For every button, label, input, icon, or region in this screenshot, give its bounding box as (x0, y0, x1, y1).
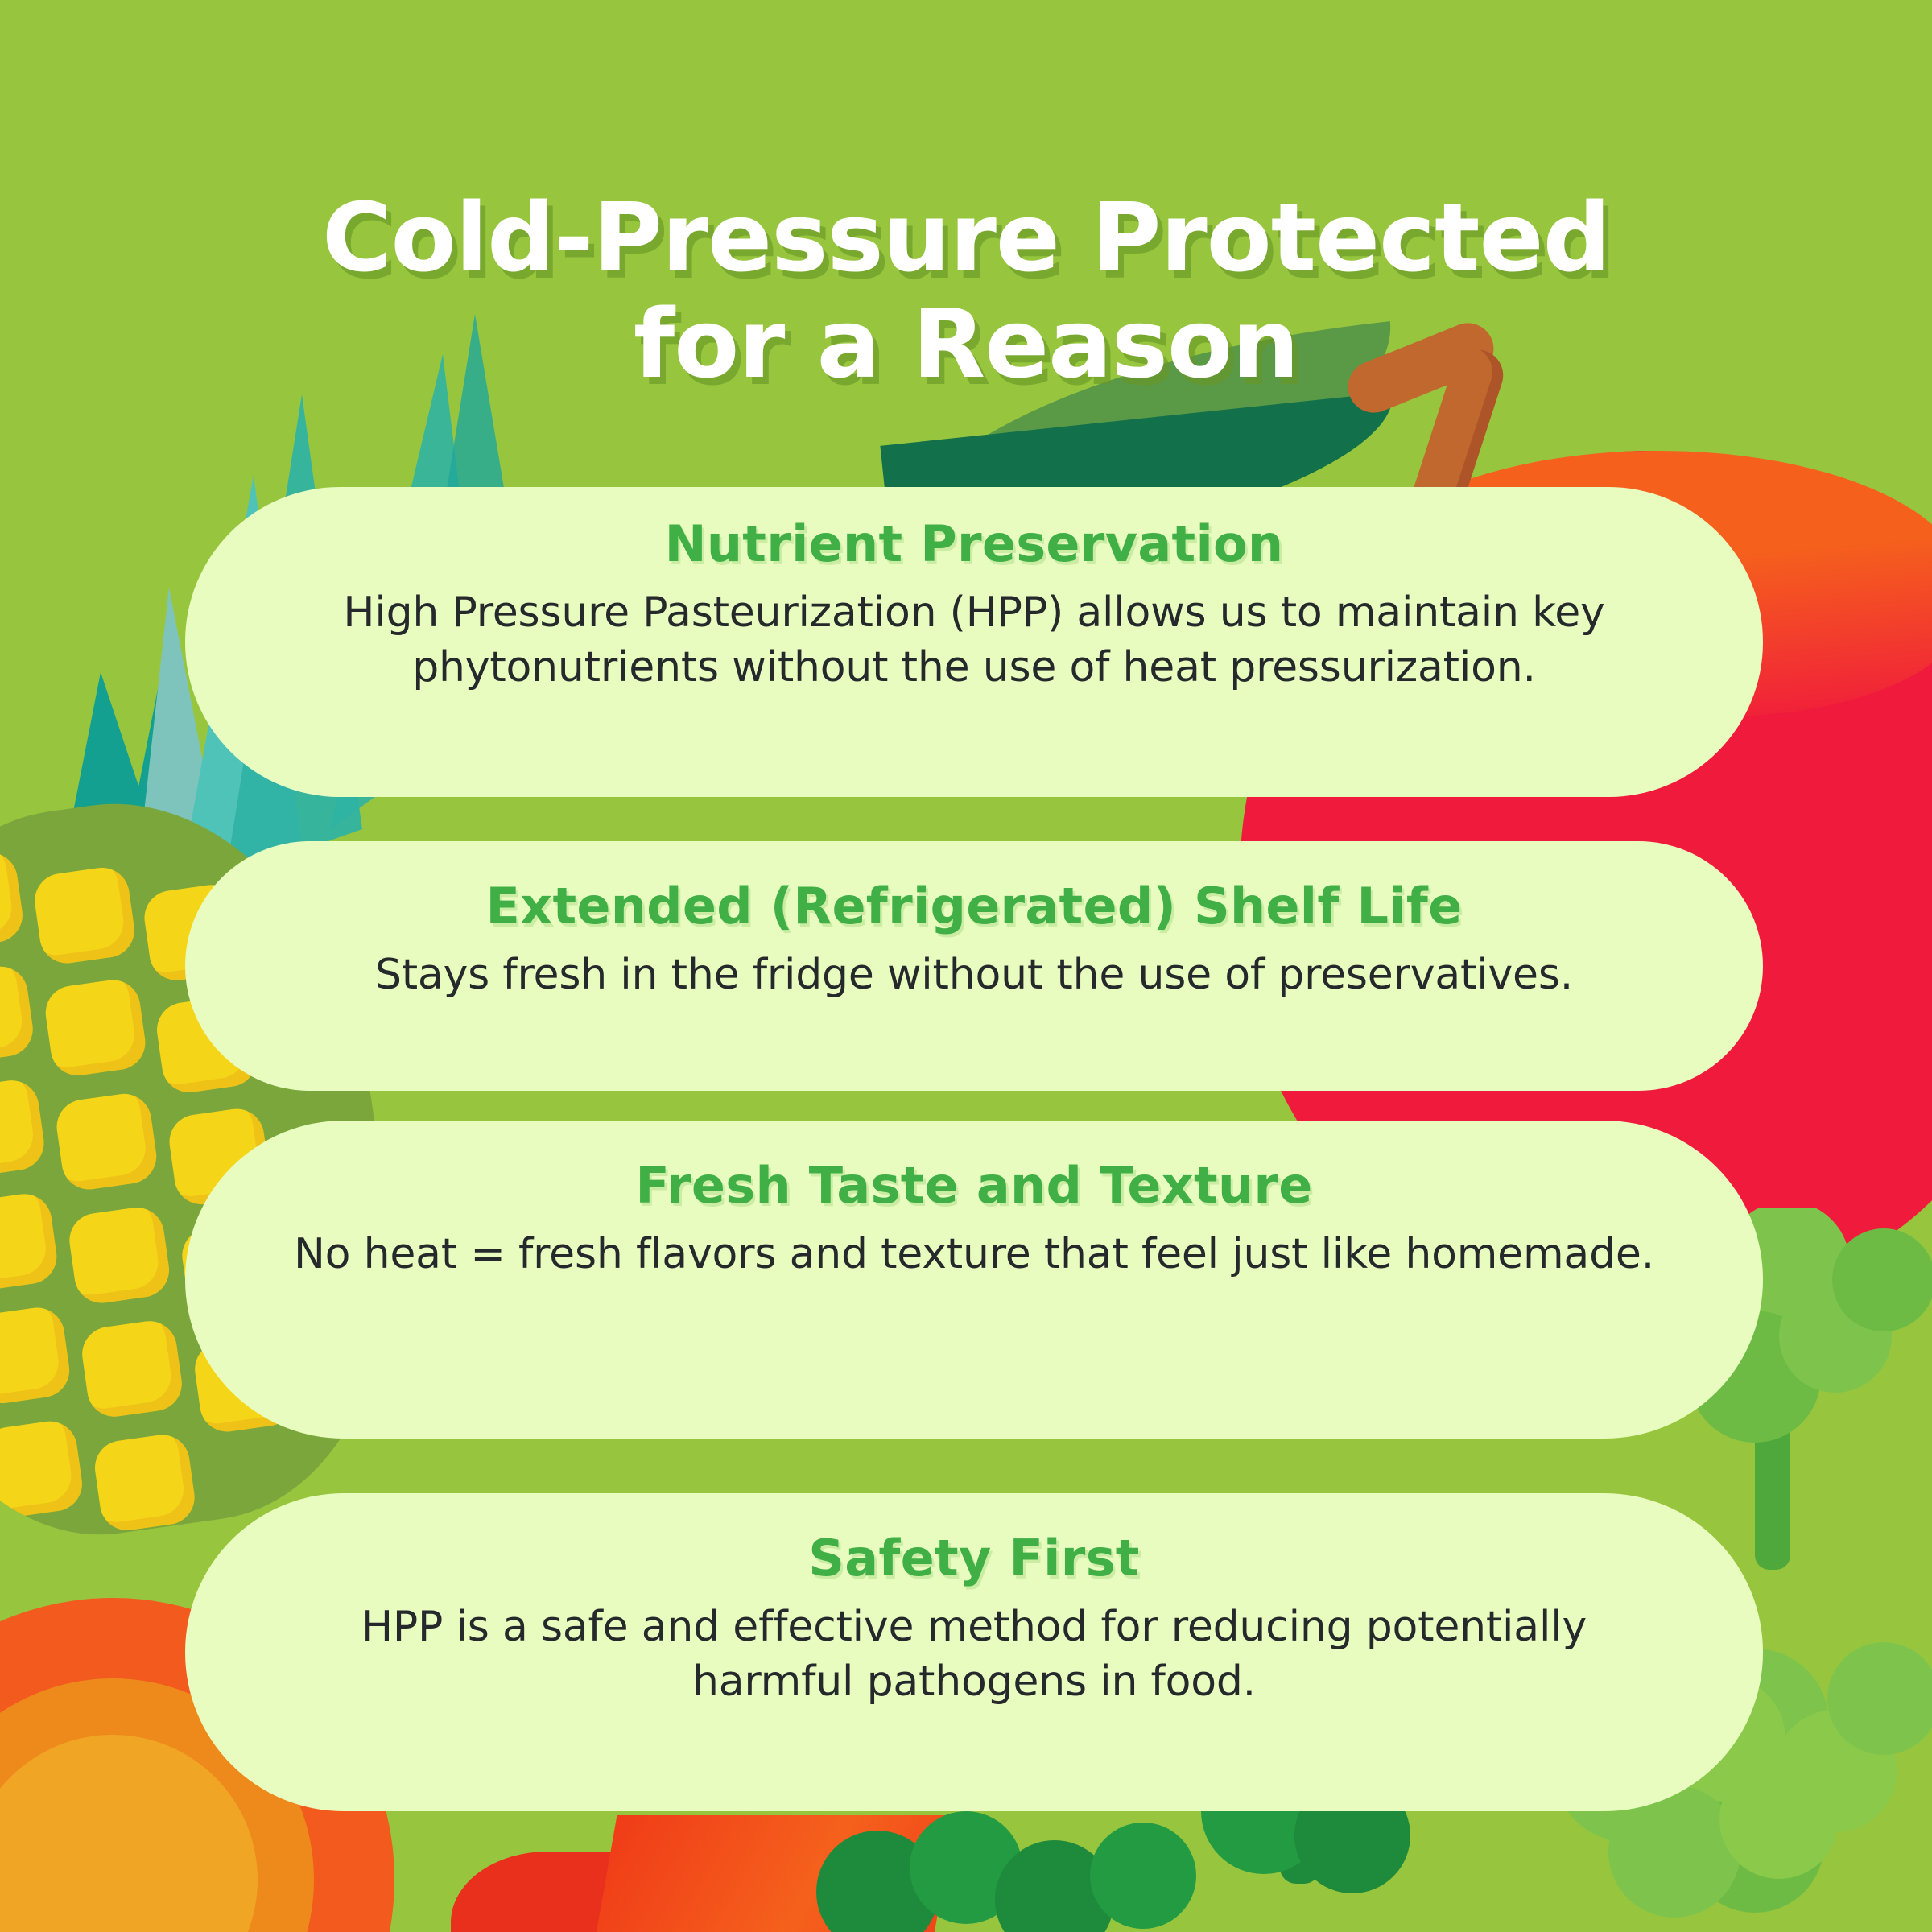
carrot-icon (575, 1815, 956, 1932)
card-body: HPP is a safe and effective method for r… (282, 1600, 1666, 1709)
benefit-card-nutrient-preservation[interactable]: Nutrient Preservation High Pressure Past… (185, 487, 1763, 797)
benefit-card-fresh-taste-and-texture[interactable]: Fresh Taste and Texture No heat = fresh … (185, 1121, 1763, 1439)
card-body: No heat = fresh flavors and texture that… (282, 1228, 1666, 1282)
tomato-wedge-icon (451, 1851, 692, 1932)
infographic-canvas: Cold-Pressure Protected for a Reason Nut… (0, 0, 1932, 1932)
card-title: Fresh Taste and Texture (282, 1156, 1666, 1215)
orange-slice-inner-icon (0, 1735, 258, 1932)
benefit-card-extended-shelf-life[interactable]: Extended (Refrigerated) Shelf Life Stays… (185, 841, 1763, 1091)
card-title: Safety First (282, 1529, 1666, 1587)
page-title-line-2: for a Reason (0, 291, 1932, 397)
card-body: High Pressure Pasteurization (HPP) allow… (282, 586, 1666, 695)
card-title: Extended (Refrigerated) Shelf Life (282, 877, 1666, 935)
card-body: Stays fresh in the fridge without the us… (282, 948, 1666, 1003)
card-title: Nutrient Preservation (282, 514, 1666, 573)
benefit-card-safety-first[interactable]: Safety First HPP is a safe and effective… (185, 1493, 1763, 1811)
page-title: Cold-Pressure Protected for a Reason (0, 184, 1932, 397)
greens-left-bottom-icon (805, 1795, 1224, 1932)
page-title-line-1: Cold-Pressure Protected (322, 182, 1610, 293)
